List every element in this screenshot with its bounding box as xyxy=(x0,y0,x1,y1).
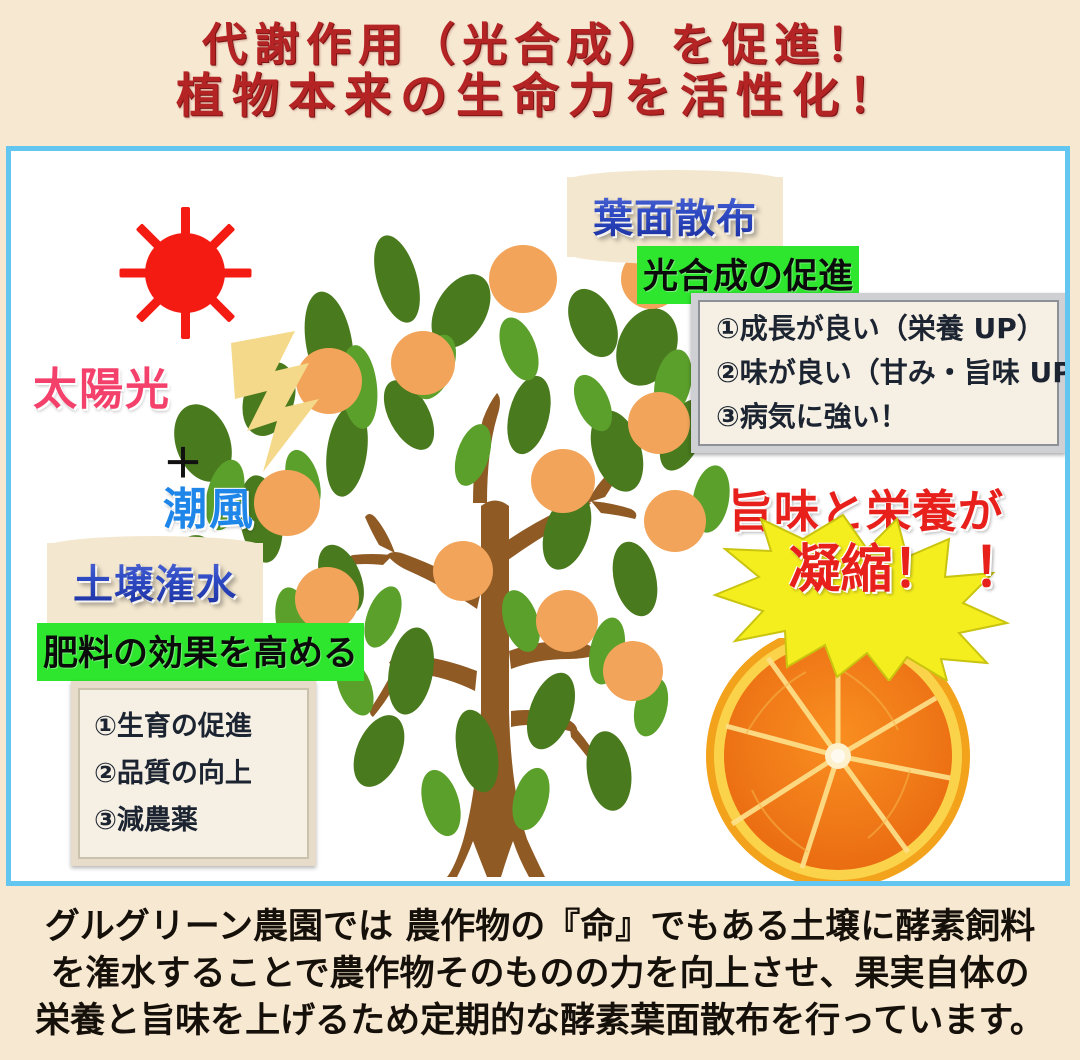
burst-main-label: 凝縮！ xyxy=(759,527,974,602)
sun-ray xyxy=(208,295,236,323)
label-sunlight: 太陽光 xyxy=(33,353,171,417)
label-sea-breeze: 潮風 xyxy=(163,473,255,537)
list-item: ①生育の促進 xyxy=(94,703,309,750)
banner-foliar-spray: 葉面散布 xyxy=(567,177,783,257)
sun-ray xyxy=(181,207,190,237)
list-item: ③病気に強い！ xyxy=(716,395,1059,439)
caption-line-2: を潅水することで農作物そのものの力を向上させ、果実自体の xyxy=(51,953,1030,997)
burst-extra-exclamation: ！ xyxy=(973,523,1027,602)
list-item: ①成長が良い（栄養 UP） xyxy=(716,307,1059,351)
burst-callout: 旨味と栄養が 凝縮！ ！ xyxy=(701,475,1031,645)
sun-ray xyxy=(120,269,150,278)
banner-foliar-spray-label: 葉面散布 xyxy=(593,186,757,244)
banner-soil-irrigation-label: 土壌潅水 xyxy=(73,552,237,610)
list-item: ②品質の向上 xyxy=(94,750,309,797)
list-item: ②味が良い（甘み・旨味 UP） xyxy=(716,351,1059,395)
header-banner: 代謝作用（光合成）を促進！ 植物本来の生命力を活性化！ xyxy=(0,0,1080,143)
sun-ray xyxy=(136,295,164,323)
sun-ray xyxy=(208,223,236,251)
list-item: ③減農薬 xyxy=(94,797,309,844)
header-title-line-1: 代謝作用（光合成）を促進！ xyxy=(202,21,878,68)
sun-ray xyxy=(136,223,164,251)
caption-line-3: 栄養と旨味を上げるため定期的な酵素葉面散布を行っています。 xyxy=(35,1000,1045,1044)
footer-caption: グルグリーン農園では 農作物の『命』でもある土壌に酵素飼料 を潅水することで農作… xyxy=(0,890,1080,1060)
illustration-canvas: 太陽光 ＋ 潮風 葉面散布 光合成の促進 ①成長が良い（栄養 UP） ②味が良い… xyxy=(11,151,1065,881)
caption-line-1: グルグリーン農園では 農作物の『命』でもある土壌に酵素飼料 xyxy=(45,906,1035,950)
listbox-soil-benefits: ①生育の促進 ②品質の向上 ③減農薬 xyxy=(71,681,316,866)
header-title-line-2: 植物本来の生命力を活性化！ xyxy=(176,72,904,121)
lightning-bolt-icon xyxy=(223,329,343,474)
banner-soil-irrigation: 土壌潅水 xyxy=(47,543,263,623)
main-illustration-panel: 太陽光 ＋ 潮風 葉面散布 光合成の促進 ①成長が良い（栄養 UP） ②味が良い… xyxy=(6,146,1070,886)
listbox-foliar-benefits: ①成長が良い（栄養 UP） ②味が良い（甘み・旨味 UP） ③病気に強い！ xyxy=(691,293,1065,453)
sun-ray xyxy=(181,309,190,339)
sun-icon xyxy=(123,211,247,335)
highlight-fertilizer-effect: 肥料の効果を高める xyxy=(37,623,364,681)
sun-ray xyxy=(222,269,252,278)
infographic-page: 代謝作用（光合成）を促進！ 植物本来の生命力を活性化！ xyxy=(0,0,1080,1060)
